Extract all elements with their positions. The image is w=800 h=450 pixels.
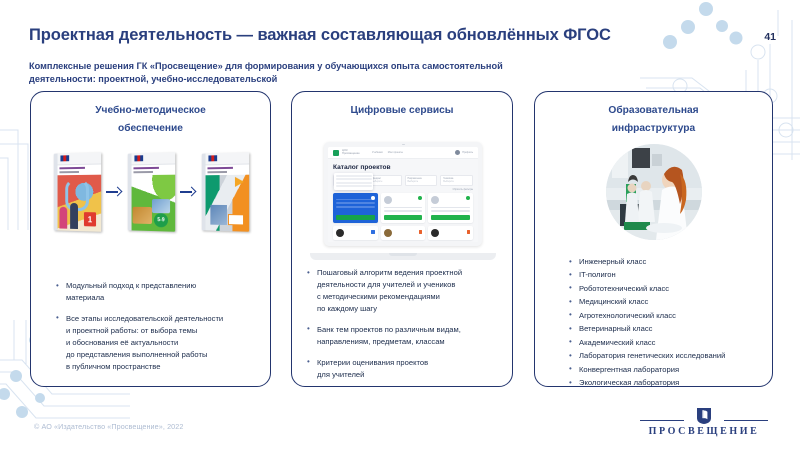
project-card[interactable] bbox=[381, 193, 426, 223]
catalog-body: Каталог проектов Класс Выберите Предмет … bbox=[328, 159, 478, 242]
arrow-icon-2 bbox=[180, 186, 196, 198]
bookmark-icon[interactable] bbox=[466, 196, 470, 200]
list-item: Конвергентная лаборатория bbox=[568, 364, 768, 376]
card-action-button[interactable] bbox=[384, 215, 423, 220]
panel-1-bullet-list: Модульный подход к представлению материа… bbox=[55, 280, 255, 382]
card-thumbnail bbox=[431, 196, 439, 204]
card-avatar bbox=[384, 229, 392, 237]
list-item: Все этапы исследовательской деятельности… bbox=[55, 313, 255, 373]
laptop-screenshot-image: ЦОК Просвещение Учебники Мои проекты Про… bbox=[310, 142, 496, 264]
panel-digital-services: Цифровые сервисы ЦОК Просвещение Учебник… bbox=[291, 91, 513, 387]
panel-2-bullet-list: Пошаговый алгоритм ведения проектной дея… bbox=[306, 267, 502, 390]
book-shield-icon bbox=[696, 407, 712, 425]
page-subtitle: Комплексные решения ГК «Просвещение» для… bbox=[29, 60, 569, 85]
list-item: Академический класс bbox=[568, 337, 768, 349]
card-avatar bbox=[431, 229, 439, 237]
panel-teaching-materials: Учебно-методическое обеспечение 1 5-9 Мо bbox=[30, 91, 271, 387]
status-badge bbox=[467, 230, 471, 234]
project-cards-row bbox=[333, 193, 473, 223]
site-brand: ЦОК Просвещение bbox=[342, 150, 360, 156]
laptop-base bbox=[310, 253, 496, 260]
panel-3-title-line1: Образовательная bbox=[608, 105, 698, 116]
panel-3-title: Образовательная инфраструктура bbox=[535, 92, 772, 137]
list-item: Лаборатория генетических исследований bbox=[568, 350, 768, 362]
list-item: Критерии оценивания проектов для учителе… bbox=[306, 357, 502, 381]
logo-mark bbox=[634, 407, 774, 425]
arrow-icon-1 bbox=[106, 186, 122, 198]
panel-1-title: Учебно-методическое обеспечение bbox=[31, 92, 270, 137]
list-item: Пошаговый алгоритм ведения проектной дея… bbox=[306, 267, 502, 315]
panel-3-title-line2: инфраструктура bbox=[549, 120, 758, 138]
card-action-button[interactable] bbox=[336, 215, 375, 220]
status-badge bbox=[419, 230, 423, 234]
nav-link[interactable]: Мои проекты bbox=[388, 151, 403, 154]
panel-educational-infrastructure: Образовательная инфраструктура bbox=[534, 91, 773, 387]
nav-link[interactable]: Учебники bbox=[372, 151, 383, 154]
reset-filters-link[interactable]: Сбросить фильтры bbox=[453, 189, 473, 191]
panel-3-bullet-list: Инженерный класс IT-полигон Робототехнич… bbox=[568, 256, 768, 391]
site-logo-icon bbox=[333, 150, 339, 156]
panel-1-title-line2: обеспечение bbox=[45, 120, 256, 138]
avatar bbox=[455, 150, 460, 155]
site-nav-links[interactable]: Учебники Мои проекты bbox=[372, 151, 403, 154]
logo-wordmark: ПРОСВЕЩЕНИЕ bbox=[634, 426, 774, 437]
laptop-lid: ЦОК Просвещение Учебники Мои проекты Про… bbox=[324, 142, 482, 246]
list-item: Банк тем проектов по различным видам, на… bbox=[306, 324, 502, 348]
list-item: Робототехнический класс bbox=[568, 283, 768, 295]
site-navbar: ЦОК Просвещение Учебники Мои проекты Про… bbox=[328, 147, 478, 159]
filter-dropdown-open[interactable] bbox=[334, 173, 373, 190]
bookmark-icon[interactable] bbox=[371, 196, 375, 200]
card-avatar bbox=[336, 229, 344, 237]
textbook-covers-image: 1 5-9 bbox=[43, 146, 259, 238]
panel-2-title-line1: Цифровые сервисы bbox=[351, 105, 454, 116]
list-item: Ветеринарный класс bbox=[568, 323, 768, 335]
catalog-heading: Каталог проектов bbox=[333, 164, 473, 171]
account-label: Профиль bbox=[462, 151, 473, 154]
laboratory-photo-image bbox=[606, 144, 702, 240]
page-title: Проектная деятельность — важная составля… bbox=[29, 26, 611, 45]
textbook-cover-1: 1 bbox=[54, 152, 101, 231]
filter-subject[interactable]: Предмет Выберите bbox=[369, 175, 402, 186]
list-item: Инженерный класс bbox=[568, 256, 768, 268]
list-item: Модульный подход к представлению материа… bbox=[55, 280, 255, 304]
copyright-text: © АО «Издательство «Просвещение», 2022 bbox=[34, 422, 183, 431]
slide: Проектная деятельность — важная составля… bbox=[0, 0, 800, 450]
project-card[interactable] bbox=[428, 226, 473, 240]
filter-direction[interactable]: Направление Выберите bbox=[405, 175, 438, 186]
project-card-selected[interactable] bbox=[333, 193, 378, 223]
panel-1-title-line1: Учебно-методическое bbox=[95, 105, 206, 116]
list-item: Агротехнологический класс bbox=[568, 310, 768, 322]
photo-circle bbox=[606, 144, 702, 240]
card-action-button[interactable] bbox=[431, 215, 470, 220]
list-item: IT-полигон bbox=[568, 269, 768, 281]
bookmark-icon[interactable] bbox=[418, 196, 422, 200]
account-area[interactable]: Профиль bbox=[455, 150, 473, 155]
project-card[interactable] bbox=[333, 226, 378, 240]
card-thumbnail bbox=[384, 196, 392, 204]
page-number: 41 bbox=[764, 31, 776, 43]
project-card[interactable] bbox=[381, 226, 426, 240]
textbook-cover-3 bbox=[202, 152, 249, 231]
filter-topic[interactable]: Тематика Выберите bbox=[440, 175, 473, 186]
laptop-screen: ЦОК Просвещение Учебники Мои проекты Про… bbox=[328, 147, 478, 242]
project-card[interactable] bbox=[428, 193, 473, 223]
list-item: Экологическая лаборатория bbox=[568, 377, 768, 389]
status-badge bbox=[371, 230, 375, 234]
textbook-cover-2: 5-9 bbox=[128, 152, 175, 231]
panel-2-title: Цифровые сервисы bbox=[292, 92, 512, 120]
project-cards-row-2 bbox=[333, 226, 473, 240]
publisher-logo: ПРОСВЕЩЕНИЕ bbox=[634, 407, 774, 437]
list-item: Медицинский класс bbox=[568, 296, 768, 308]
